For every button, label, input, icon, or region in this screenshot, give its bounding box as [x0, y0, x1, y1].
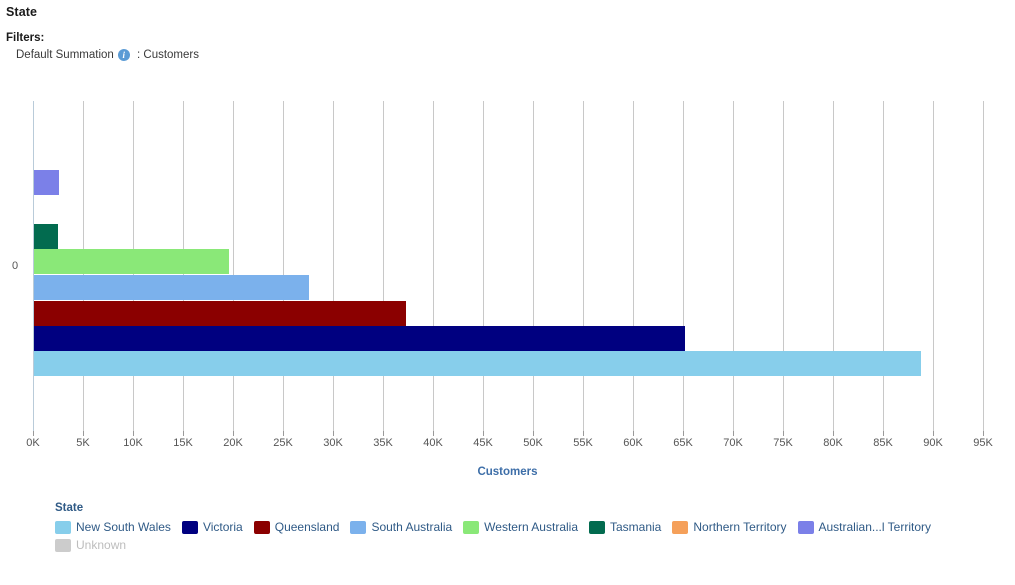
x-tick-mark [483, 431, 484, 436]
x-tick-label: 95K [960, 437, 1006, 449]
legend-item-label: Victoria [203, 520, 243, 534]
x-tick-mark [783, 431, 784, 436]
legend-item[interactable]: Tasmania [589, 520, 661, 534]
x-tick-label: 60K [610, 437, 656, 449]
x-tick-label: 30K [310, 437, 356, 449]
x-tick-label: 80K [810, 437, 856, 449]
bar[interactable] [34, 301, 406, 326]
x-tick-label: 15K [160, 437, 206, 449]
filters-block: Filters: Default Summation i : Customers [0, 19, 1015, 62]
x-tick-label: 5K [60, 437, 106, 449]
legend-item[interactable]: Unknown [55, 538, 126, 552]
legend-item-label: New South Wales [76, 520, 171, 534]
bar[interactable] [34, 224, 58, 249]
x-tick-label: 75K [760, 437, 806, 449]
x-tick-label: 35K [360, 437, 406, 449]
bar[interactable] [34, 326, 685, 351]
legend-swatch [55, 521, 71, 534]
x-tick-label: 50K [510, 437, 556, 449]
gridline [333, 101, 334, 431]
legend-item[interactable]: Western Australia [463, 520, 578, 534]
gridline [883, 101, 884, 431]
gridline [533, 101, 534, 431]
x-tick-label: 0K [10, 437, 56, 449]
x-axis: 0K5K10K15K20K25K30K35K40K45K50K55K60K65K… [0, 431, 1015, 461]
header: State Filters: Default Summation i : Cus… [0, 0, 1015, 62]
x-tick-mark [633, 431, 634, 436]
x-tick-mark [983, 431, 984, 436]
legend-item-label: Tasmania [610, 520, 661, 534]
x-tick-mark [183, 431, 184, 436]
gridline [233, 101, 234, 431]
x-tick-label: 40K [410, 437, 456, 449]
legend-swatch [463, 521, 479, 534]
legend-swatch [55, 539, 71, 552]
bar[interactable] [34, 170, 59, 195]
x-tick-label: 90K [910, 437, 956, 449]
x-tick-label: 10K [110, 437, 156, 449]
x-tick-mark [333, 431, 334, 436]
x-tick-mark [933, 431, 934, 436]
x-tick-mark [833, 431, 834, 436]
x-tick-label: 85K [860, 437, 906, 449]
legend-items: New South WalesVictoriaQueenslandSouth A… [55, 520, 1005, 556]
legend-item[interactable]: Australian...l Territory [798, 520, 931, 534]
gridline [683, 101, 684, 431]
y-axis-zero-label: 0 [12, 260, 18, 272]
legend-swatch [798, 521, 814, 534]
x-axis-title: Customers [0, 466, 1015, 478]
x-tick-mark [533, 431, 534, 436]
filter-separator: : [134, 48, 144, 62]
bar[interactable] [34, 249, 229, 274]
x-tick-label: 25K [260, 437, 306, 449]
legend-swatch [254, 521, 270, 534]
legend-item-label: Unknown [76, 538, 126, 552]
gridline [433, 101, 434, 431]
legend-title: State [55, 502, 1005, 514]
gridline [583, 101, 584, 431]
filter-row: Default Summation i : Customers [6, 48, 1015, 62]
legend-swatch [350, 521, 366, 534]
x-tick-mark [33, 431, 34, 436]
legend-item[interactable]: South Australia [350, 520, 452, 534]
x-tick-mark [883, 431, 884, 436]
x-tick-mark [683, 431, 684, 436]
x-tick-mark [233, 431, 234, 436]
x-tick-mark [133, 431, 134, 436]
x-tick-label: 65K [660, 437, 706, 449]
filters-label: Filters: [6, 31, 1015, 45]
legend-item-label: South Australia [371, 520, 452, 534]
gridline [283, 101, 284, 431]
x-tick-label: 55K [560, 437, 606, 449]
legend-swatch [672, 521, 688, 534]
legend-item-label: Northern Territory [693, 520, 786, 534]
gridline [983, 101, 984, 431]
x-tick-label: 20K [210, 437, 256, 449]
x-tick-mark [283, 431, 284, 436]
legend-swatch [589, 521, 605, 534]
page-title: State [0, 0, 1015, 19]
x-tick-mark [583, 431, 584, 436]
gridline [633, 101, 634, 431]
x-tick-label: 70K [710, 437, 756, 449]
legend-item-label: Queensland [275, 520, 340, 534]
bar[interactable] [34, 275, 309, 300]
legend-item-label: Western Australia [484, 520, 578, 534]
x-tick-mark [383, 431, 384, 436]
x-tick-mark [83, 431, 84, 436]
legend-item-label: Australian...l Territory [819, 520, 931, 534]
chart-plot-area [33, 101, 1011, 431]
filter-name: Default Summation [16, 48, 114, 62]
legend-item[interactable]: Queensland [254, 520, 340, 534]
gridline [933, 101, 934, 431]
legend: State New South WalesVictoriaQueenslandS… [55, 502, 1005, 556]
filter-value: Customers [143, 48, 199, 62]
legend-item[interactable]: Victoria [182, 520, 243, 534]
gridline [783, 101, 784, 431]
legend-item[interactable]: Northern Territory [672, 520, 786, 534]
x-tick-mark [733, 431, 734, 436]
x-tick-label: 45K [460, 437, 506, 449]
bar[interactable] [34, 351, 921, 376]
gridline [483, 101, 484, 431]
gridline [733, 101, 734, 431]
gridline [833, 101, 834, 431]
legend-item[interactable]: New South Wales [55, 520, 171, 534]
info-icon[interactable]: i [118, 49, 130, 61]
x-tick-mark [433, 431, 434, 436]
gridline [383, 101, 384, 431]
legend-swatch [182, 521, 198, 534]
